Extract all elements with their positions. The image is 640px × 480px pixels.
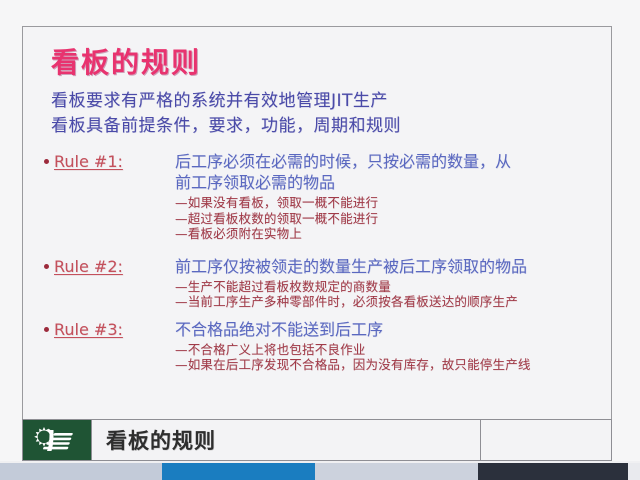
footer-empty-cell — [480, 420, 611, 460]
rule-main-line: 前工序领取必需的物品 — [175, 172, 511, 193]
rule-item: Rule #2: 前工序仅按被领走的数量生产被后工序领取的物品 —生产不能超过看… — [39, 256, 605, 310]
page-title: 看板的规则 — [51, 41, 201, 81]
rule-sub-list: —生产不能超过看板枚数规定的商数量 —当前工序生产多种零部件时，必须按各看板送达… — [175, 279, 605, 310]
slide-frame: 看板的规则 看板要求有严格的系统并有效地管理JIT生产 看板具备前提条件，要求，… — [22, 26, 612, 428]
rule-item: Rule #3: 不合格品绝对不能送到后工序 —不合格广义上将也包括不良作业 —… — [39, 319, 605, 373]
rule-main-text: 后工序必须在必需的时候，只按必需的数量，从 前工序领取必需的物品 — [175, 151, 511, 193]
rule-sub-list: —如果没有看板，领取一概不能进行 —超过看板枚数的领取一概不能进行 —看板必须附… — [175, 195, 605, 242]
bullet-icon — [44, 327, 49, 332]
rule-label-group: Rule #1: — [39, 151, 175, 171]
rule-main-line: 后工序必须在必需的时候，只按必需的数量，从 — [175, 151, 511, 172]
rule-sub-line: —不合格广义上将也包括不良作业 — [175, 342, 605, 358]
rule-item: Rule #1: 后工序必须在必需的时候，只按必需的数量，从 前工序领取必需的物… — [39, 151, 605, 242]
bottom-color-strip — [0, 463, 640, 480]
rule-label: Rule #3: — [54, 320, 123, 339]
spacer — [39, 310, 605, 319]
rule-main-line: 不合格品绝对不能送到后工序 — [175, 319, 383, 340]
rule-sub-line: —生产不能超过看板枚数规定的商数量 — [175, 279, 605, 295]
strip-segment-navy — [478, 463, 628, 480]
strip-segment-light-right — [628, 463, 640, 480]
rule-header: Rule #3: 不合格品绝对不能送到后工序 — [39, 319, 605, 340]
slide-canvas: 看板的规则 看板要求有严格的系统并有效地管理JIT生产 看板具备前提条件，要求，… — [0, 0, 640, 480]
rule-label-group: Rule #2: — [39, 256, 175, 276]
rule-main-text: 前工序仅按被领走的数量生产被后工序领取的物品 — [175, 256, 527, 277]
rule-label-group: Rule #3: — [39, 319, 175, 339]
rule-main-line: 前工序仅按被领走的数量生产被后工序领取的物品 — [175, 256, 527, 277]
rule-sub-line: —如果没有看板，领取一概不能进行 — [175, 195, 605, 211]
rule-header: Rule #2: 前工序仅按被领走的数量生产被后工序领取的物品 — [39, 256, 605, 277]
rule-sub-line: —如果在后工序发现不合格品，因为没有库存，故只能停生产线 — [175, 357, 605, 373]
rule-main-text: 不合格品绝对不能送到后工序 — [175, 319, 383, 340]
rules-list: Rule #1: 后工序必须在必需的时候，只按必需的数量，从 前工序领取必需的物… — [39, 151, 605, 373]
strip-segment-gray-left — [0, 463, 162, 480]
footer-bar: 看板的规则 — [22, 419, 612, 461]
intro-line: 看板具备前提条件，要求，功能，周期和规则 — [51, 114, 401, 139]
rule-header: Rule #1: 后工序必须在必需的时候，只按必需的数量，从 前工序领取必需的物… — [39, 151, 605, 193]
footer-title: 看板的规则 — [92, 420, 480, 460]
bullet-icon — [44, 159, 49, 164]
strip-segment-blue — [162, 463, 315, 480]
rule-sub-line: —超过看板枚数的领取一概不能进行 — [175, 211, 605, 227]
company-logo — [23, 420, 92, 460]
intro-line: 看板要求有严格的系统并有效地管理JIT生产 — [51, 89, 401, 114]
rule-label: Rule #1: — [54, 152, 123, 171]
rule-sub-line: —看板必须附在实物上 — [175, 226, 605, 242]
rule-label: Rule #2: — [54, 257, 123, 276]
rule-sub-list: —不合格广义上将也包括不良作业 —如果在后工序发现不合格品，因为没有库存，故只能… — [175, 342, 605, 373]
intro-text-block: 看板要求有严格的系统并有效地管理JIT生产 看板具备前提条件，要求，功能，周期和… — [51, 89, 401, 139]
strip-segment-gray-mid — [315, 463, 478, 480]
bullet-icon — [44, 264, 49, 269]
spacer — [39, 242, 605, 256]
rule-sub-line: —当前工序生产多种零部件时，必须按各看板送达的顺序生产 — [175, 294, 605, 310]
